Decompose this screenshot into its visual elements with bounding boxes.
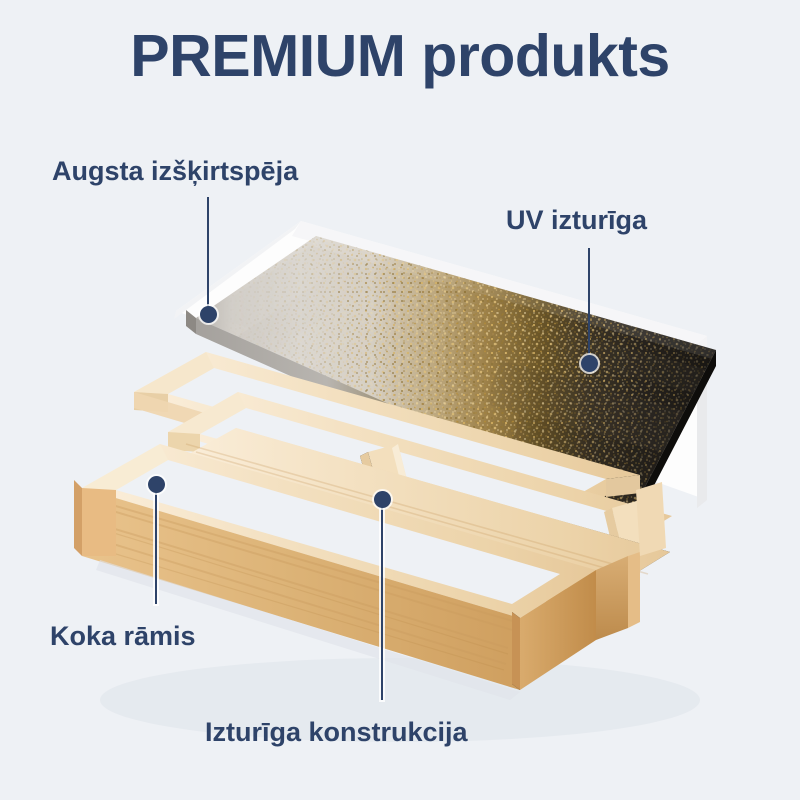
callout-label-uv: UV izturīga [506, 206, 647, 236]
callout-dot-wood-frame [148, 476, 165, 493]
callout-leader-line-wood-frame [155, 486, 157, 604]
callout-label-wood-frame: Koka rāmis [50, 622, 196, 652]
callout-dot-uv [581, 355, 598, 372]
callout-leader-line-construction [381, 500, 383, 700]
callout-leader-line-resolution [207, 197, 209, 315]
callout-label-resolution: Augsta izšķirtspēja [52, 157, 298, 187]
infographic-canvas: PREMIUM produkts Augsta izšķirtspēja UV … [0, 0, 800, 800]
callout-label-construction: Izturīga konstrukcija [205, 718, 468, 748]
exploded-product-illustration [0, 0, 800, 800]
callout-dot-construction [374, 491, 391, 508]
callout-leader-line-uv [588, 248, 590, 364]
page-title: PREMIUM produkts [0, 26, 800, 88]
callout-dot-resolution [200, 306, 217, 323]
